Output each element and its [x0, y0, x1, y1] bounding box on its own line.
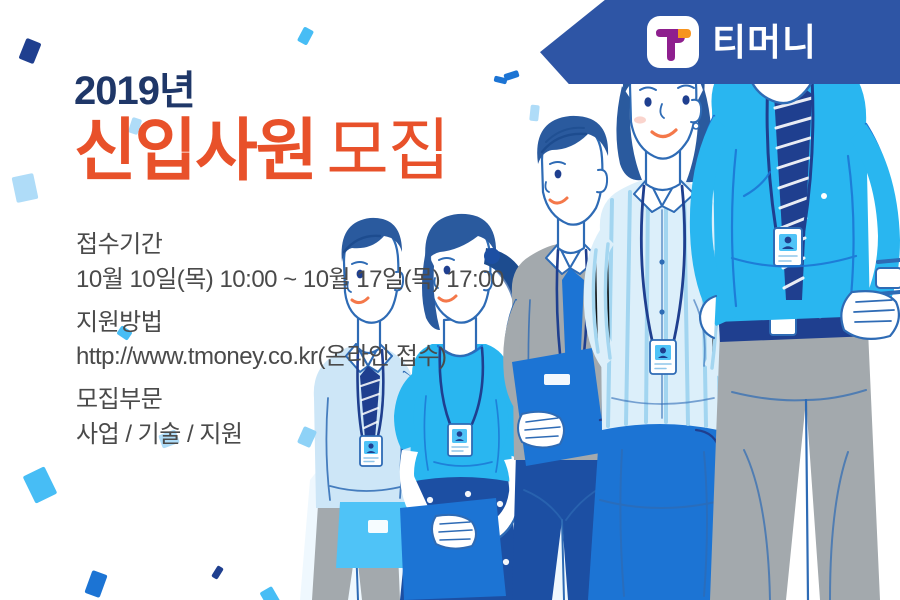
info-block: 접수기간 10월 10일(목) 10:00 ~ 10월 17일(목) 17:00… — [76, 228, 504, 453]
headline-title-light: 모집 — [326, 113, 449, 189]
headline: 2019년 신입사원모집 — [74, 68, 449, 187]
application-period-label: 접수기간 — [76, 228, 504, 263]
tmoney-logo-icon — [647, 16, 699, 68]
recruitment-poster: 티머니 2019년 신입사원모집 접수기간 10월 10일(목) 10:00 ~… — [0, 0, 900, 600]
confetti-skyblue-2 — [529, 105, 540, 122]
confetti-cyan-3 — [259, 586, 282, 600]
headline-year: 2019년 — [74, 68, 449, 114]
brand-banner: 티머니 — [540, 0, 900, 84]
tmoney-logo-text: 티머니 — [712, 24, 817, 61]
application-method-label: 지원방법 — [76, 306, 504, 341]
confetti-skyblue-1 — [12, 173, 39, 203]
confetti-blue-3 — [84, 570, 107, 598]
confetti-navy-1 — [18, 38, 41, 64]
recruit-field-value: 사업 / 기술 / 지원 — [76, 418, 504, 453]
headline-title: 신입사원모집 — [74, 116, 449, 187]
confetti-navy-2 — [211, 565, 224, 580]
application-method-value[interactable]: http://www.tmoney.co.kr(온라인 접수) — [76, 340, 504, 375]
confetti-cyan-2 — [23, 466, 58, 503]
application-period-value: 10월 10일(목) 10:00 ~ 10월 17일(목) 17:00 — [76, 263, 504, 298]
headline-title-bold: 신입사원 — [74, 113, 316, 189]
recruit-field-label: 모집부문 — [76, 383, 504, 418]
